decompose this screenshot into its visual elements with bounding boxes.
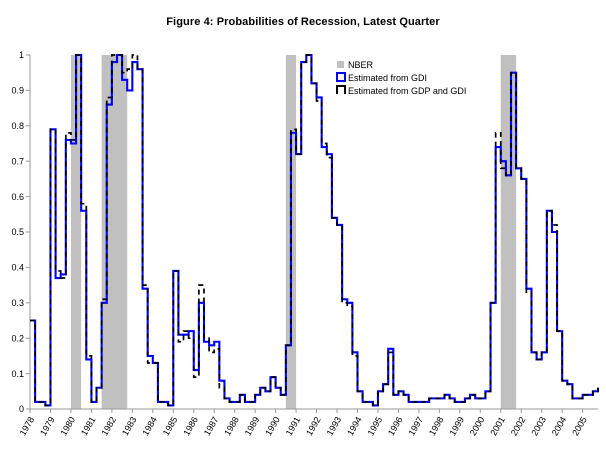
x-tick-label: 1993 [325,415,344,437]
x-tick-label: 1980 [58,415,77,437]
x-tick-label: 1982 [99,415,118,437]
legend-item: Estimated from GDP and GDI [337,86,466,96]
x-tick-label: 1989 [243,415,262,437]
y-tick-label: 0.3 [11,298,24,308]
x-tick-label: 2001 [488,415,507,437]
y-tick-label: 1 [19,50,24,60]
x-tick-label: 2005 [570,415,589,437]
nber-swatch-icon [337,61,344,68]
y-axis-ticks: 00.10.20.30.40.50.60.70.80.91 [11,50,30,414]
x-tick-label: 1992 [304,415,323,437]
x-tick-label: 1981 [79,415,98,437]
x-tick-label: 1996 [386,415,405,437]
x-tick-label: 1997 [406,415,425,437]
y-tick-label: 0.6 [11,192,24,202]
y-tick-label: 0.5 [11,227,24,237]
x-tick-label: 1986 [181,415,200,437]
gdi-swatch-icon [337,73,345,81]
legend-label: NBER [348,60,374,70]
x-tick-label: 1998 [427,415,446,437]
x-tick-label: 1985 [161,415,180,437]
x-tick-label: 2004 [550,415,569,437]
nber-band [501,55,516,409]
gdp-gdi-swatch-icon [337,86,345,94]
legend-label: Estimated from GDI [348,73,427,83]
x-tick-label: 1991 [284,415,303,437]
legend-label: Estimated from GDP and GDI [348,86,466,96]
y-tick-label: 0.9 [11,86,24,96]
x-tick-label: 1988 [222,415,241,437]
y-tick-label: 0.7 [11,156,24,166]
legend: NBEREstimated from GDIEstimated from GDP… [337,60,466,96]
chart-figure: Figure 4: Probabilities of Recession, La… [0,0,606,461]
x-tick-label: 1978 [18,415,37,437]
nber-band [102,55,128,409]
y-tick-label: 0 [19,404,24,414]
y-tick-label: 0.2 [11,333,24,343]
x-tick-label: 1994 [345,415,364,437]
x-tick-label: 1990 [263,415,282,437]
x-tick-label: 2003 [529,415,548,437]
nber-recession-bands [71,55,516,409]
y-tick-label: 0.4 [11,263,24,273]
x-tick-label: 1983 [120,415,139,437]
y-tick-label: 0.8 [11,121,24,131]
recession-probability-chart: 00.10.20.30.40.50.60.70.80.9119781979198… [0,0,606,461]
x-tick-label: 1987 [202,415,221,437]
x-tick-label: 1999 [447,415,466,437]
x-tick-label: 2002 [509,415,528,437]
legend-item: NBER [337,60,374,70]
x-tick-label: 1979 [38,415,57,437]
y-tick-label: 0.1 [11,369,24,379]
x-axis-ticks: 1978197919801981198219831984198519861987… [18,409,589,437]
x-tick-label: 1984 [140,415,159,437]
x-tick-label: 1995 [366,415,385,437]
x-tick-label: 2000 [468,415,487,437]
legend-item: Estimated from GDI [337,73,427,83]
